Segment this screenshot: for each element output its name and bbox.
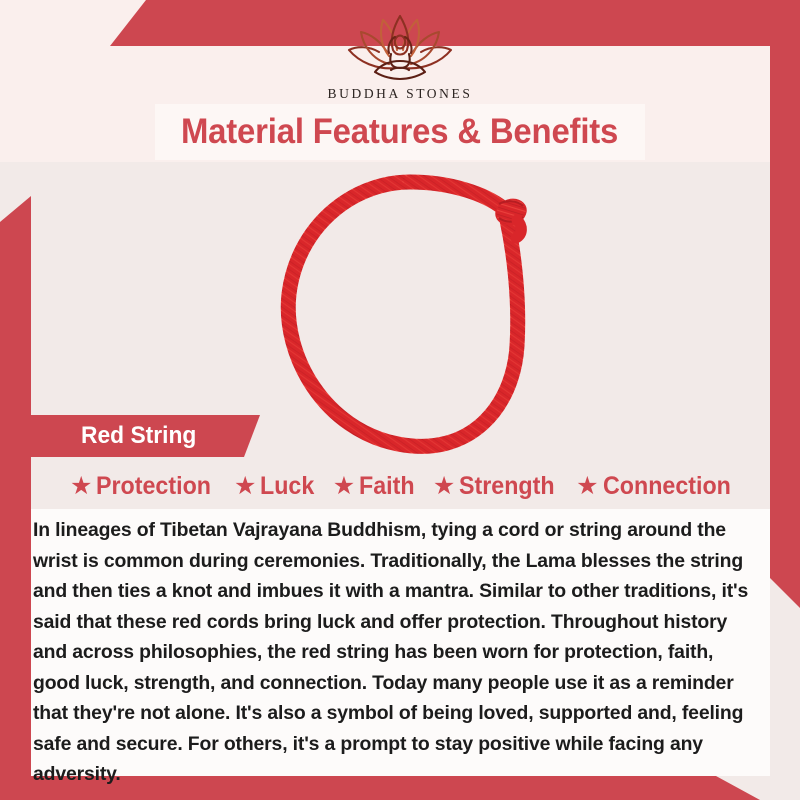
product-image [255, 168, 565, 464]
infographic-page: BUDDHA STONES Material Features & Benefi… [0, 0, 800, 800]
benefit-label: Protection [96, 472, 211, 501]
description-panel: In lineages of Tibetan Vajrayana Buddhis… [31, 509, 770, 776]
lotus-meditation-icon [325, 8, 475, 84]
product-label-banner: Red String [16, 415, 260, 457]
title-banner: Material Features & Benefits [155, 104, 645, 160]
product-label: Red String [81, 422, 196, 450]
benefit-item-protection: ★ Protection [70, 472, 220, 501]
benefit-item-strength: ★ Strength [433, 472, 562, 501]
left-red-bar [0, 196, 31, 800]
star-icon: ★ [333, 474, 355, 499]
star-icon: ★ [234, 474, 256, 499]
star-icon: ★ [70, 474, 92, 499]
benefit-item-faith: ★ Faith [333, 472, 419, 501]
benefit-label: Strength [459, 472, 555, 501]
description-text: In lineages of Tibetan Vajrayana Buddhis… [31, 509, 770, 790]
brand-logo: BUDDHA STONES [0, 8, 800, 102]
benefit-label: Faith [359, 472, 415, 501]
benefit-label: Luck [260, 472, 314, 501]
benefit-item-luck: ★ Luck [234, 472, 319, 501]
benefit-label: Connection [603, 472, 731, 501]
star-icon: ★ [576, 474, 598, 499]
benefit-item-connection: ★ Connection [576, 472, 740, 501]
brand-wordmark: BUDDHA STONES [0, 86, 800, 102]
benefits-list: ★ Protection ★ Luck ★ Faith ★ Strength ★… [40, 466, 770, 506]
red-string-bracelet-illustration [255, 168, 565, 464]
star-icon: ★ [433, 474, 455, 499]
page-title: Material Features & Benefits [181, 112, 618, 152]
